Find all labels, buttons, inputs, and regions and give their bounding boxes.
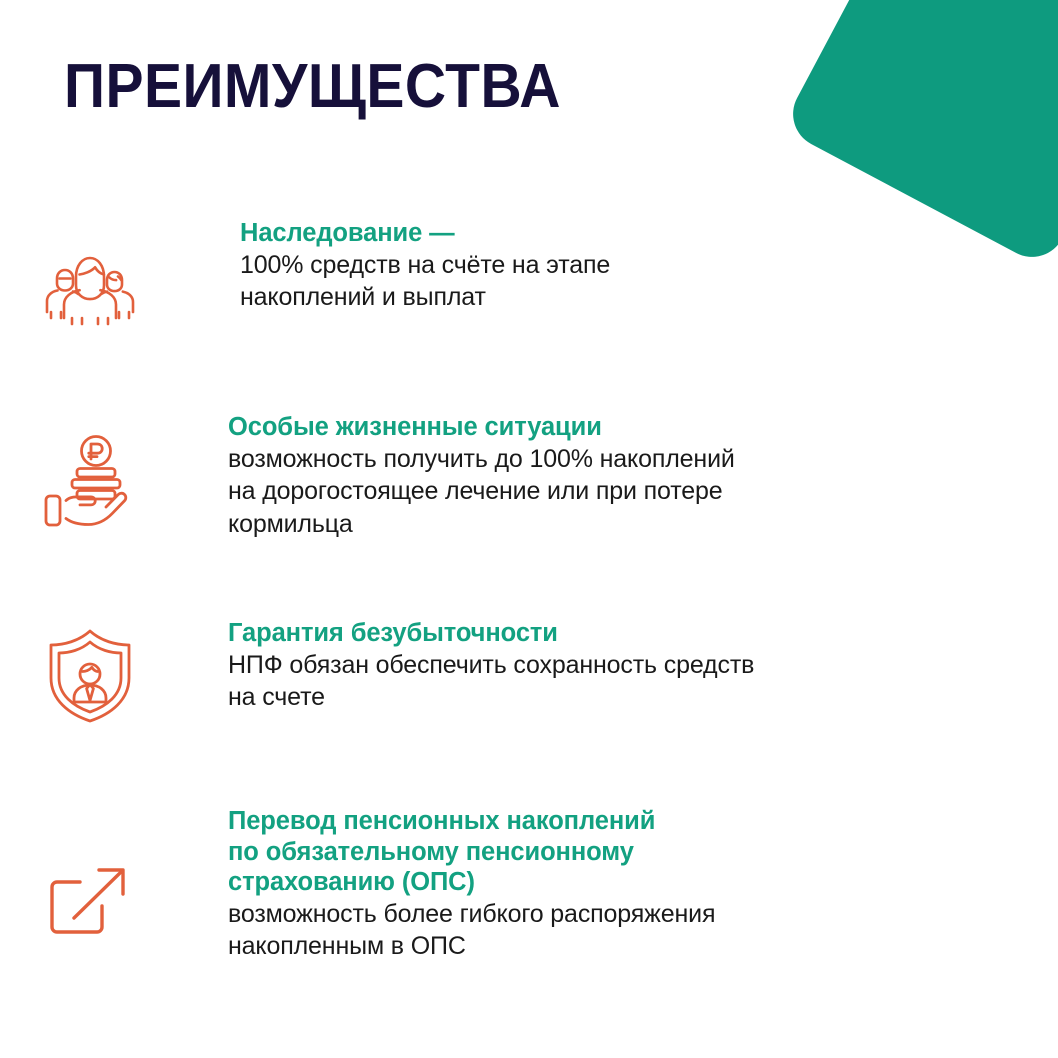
benefit-body-line: кормильца (228, 508, 1058, 541)
benefit-heading: Перевод пенсионных накоплений (228, 806, 1058, 837)
benefit-body-line: накоплений и выплат (240, 281, 1058, 314)
family-icon (38, 248, 142, 326)
benefit-text-wrapper: Перевод пенсионных накоплений по обязате… (180, 806, 1058, 963)
list-item: Наследование — 100% средств на счёте на … (0, 218, 1058, 326)
benefit-icon-wrapper (0, 618, 180, 724)
benefit-heading: Особые жизненные ситуации (228, 412, 1058, 443)
slide-canvas: ПРЕИМУЩЕСТВА (0, 0, 1058, 1058)
benefit-body-line: на дорогостоящее лечение или при потере (228, 475, 1058, 508)
benefit-heading: по обязательному пенсионному (228, 837, 1058, 868)
benefit-heading: Гарантия безубыточности (228, 618, 1058, 649)
shield-with-person-icon (46, 628, 134, 724)
hand-with-coins-ruble-icon (44, 434, 136, 532)
benefit-text-wrapper: Гарантия безубыточности НПФ обязан обесп… (180, 618, 1058, 714)
benefit-text-wrapper: Особые жизненные ситуации возможность по… (180, 412, 1058, 540)
benefit-icon-wrapper (0, 412, 180, 532)
list-item: Гарантия безубыточности НПФ обязан обесп… (0, 618, 1058, 724)
share-export-arrow-icon (47, 858, 133, 940)
benefit-body-line: 100% средств на счёте на этапе (240, 249, 1058, 282)
benefit-body-line: возможность более гибкого распоряжения (228, 898, 1058, 931)
list-item: Особые жизненные ситуации возможность по… (0, 412, 1058, 540)
list-item: Перевод пенсионных накоплений по обязате… (0, 806, 1058, 963)
benefit-text-wrapper: Наследование — 100% средств на счёте на … (180, 218, 1058, 314)
benefit-body-line: возможность получить до 100% накоплений (228, 443, 1058, 476)
benefit-heading: Наследование — (240, 218, 1058, 249)
benefit-heading: страхованию (ОПС) (228, 867, 1058, 898)
benefit-body-line: на счете (228, 681, 1058, 714)
page-title: ПРЕИМУЩЕСТВА (64, 56, 561, 118)
benefit-icon-wrapper (0, 218, 180, 326)
benefit-icon-wrapper (0, 806, 180, 940)
benefit-body-line: накопленным в ОПС (228, 930, 1058, 963)
benefits-list: Наследование — 100% средств на счёте на … (0, 218, 1058, 963)
benefit-body-line: НПФ обязан обеспечить сохранность средст… (228, 649, 1058, 682)
